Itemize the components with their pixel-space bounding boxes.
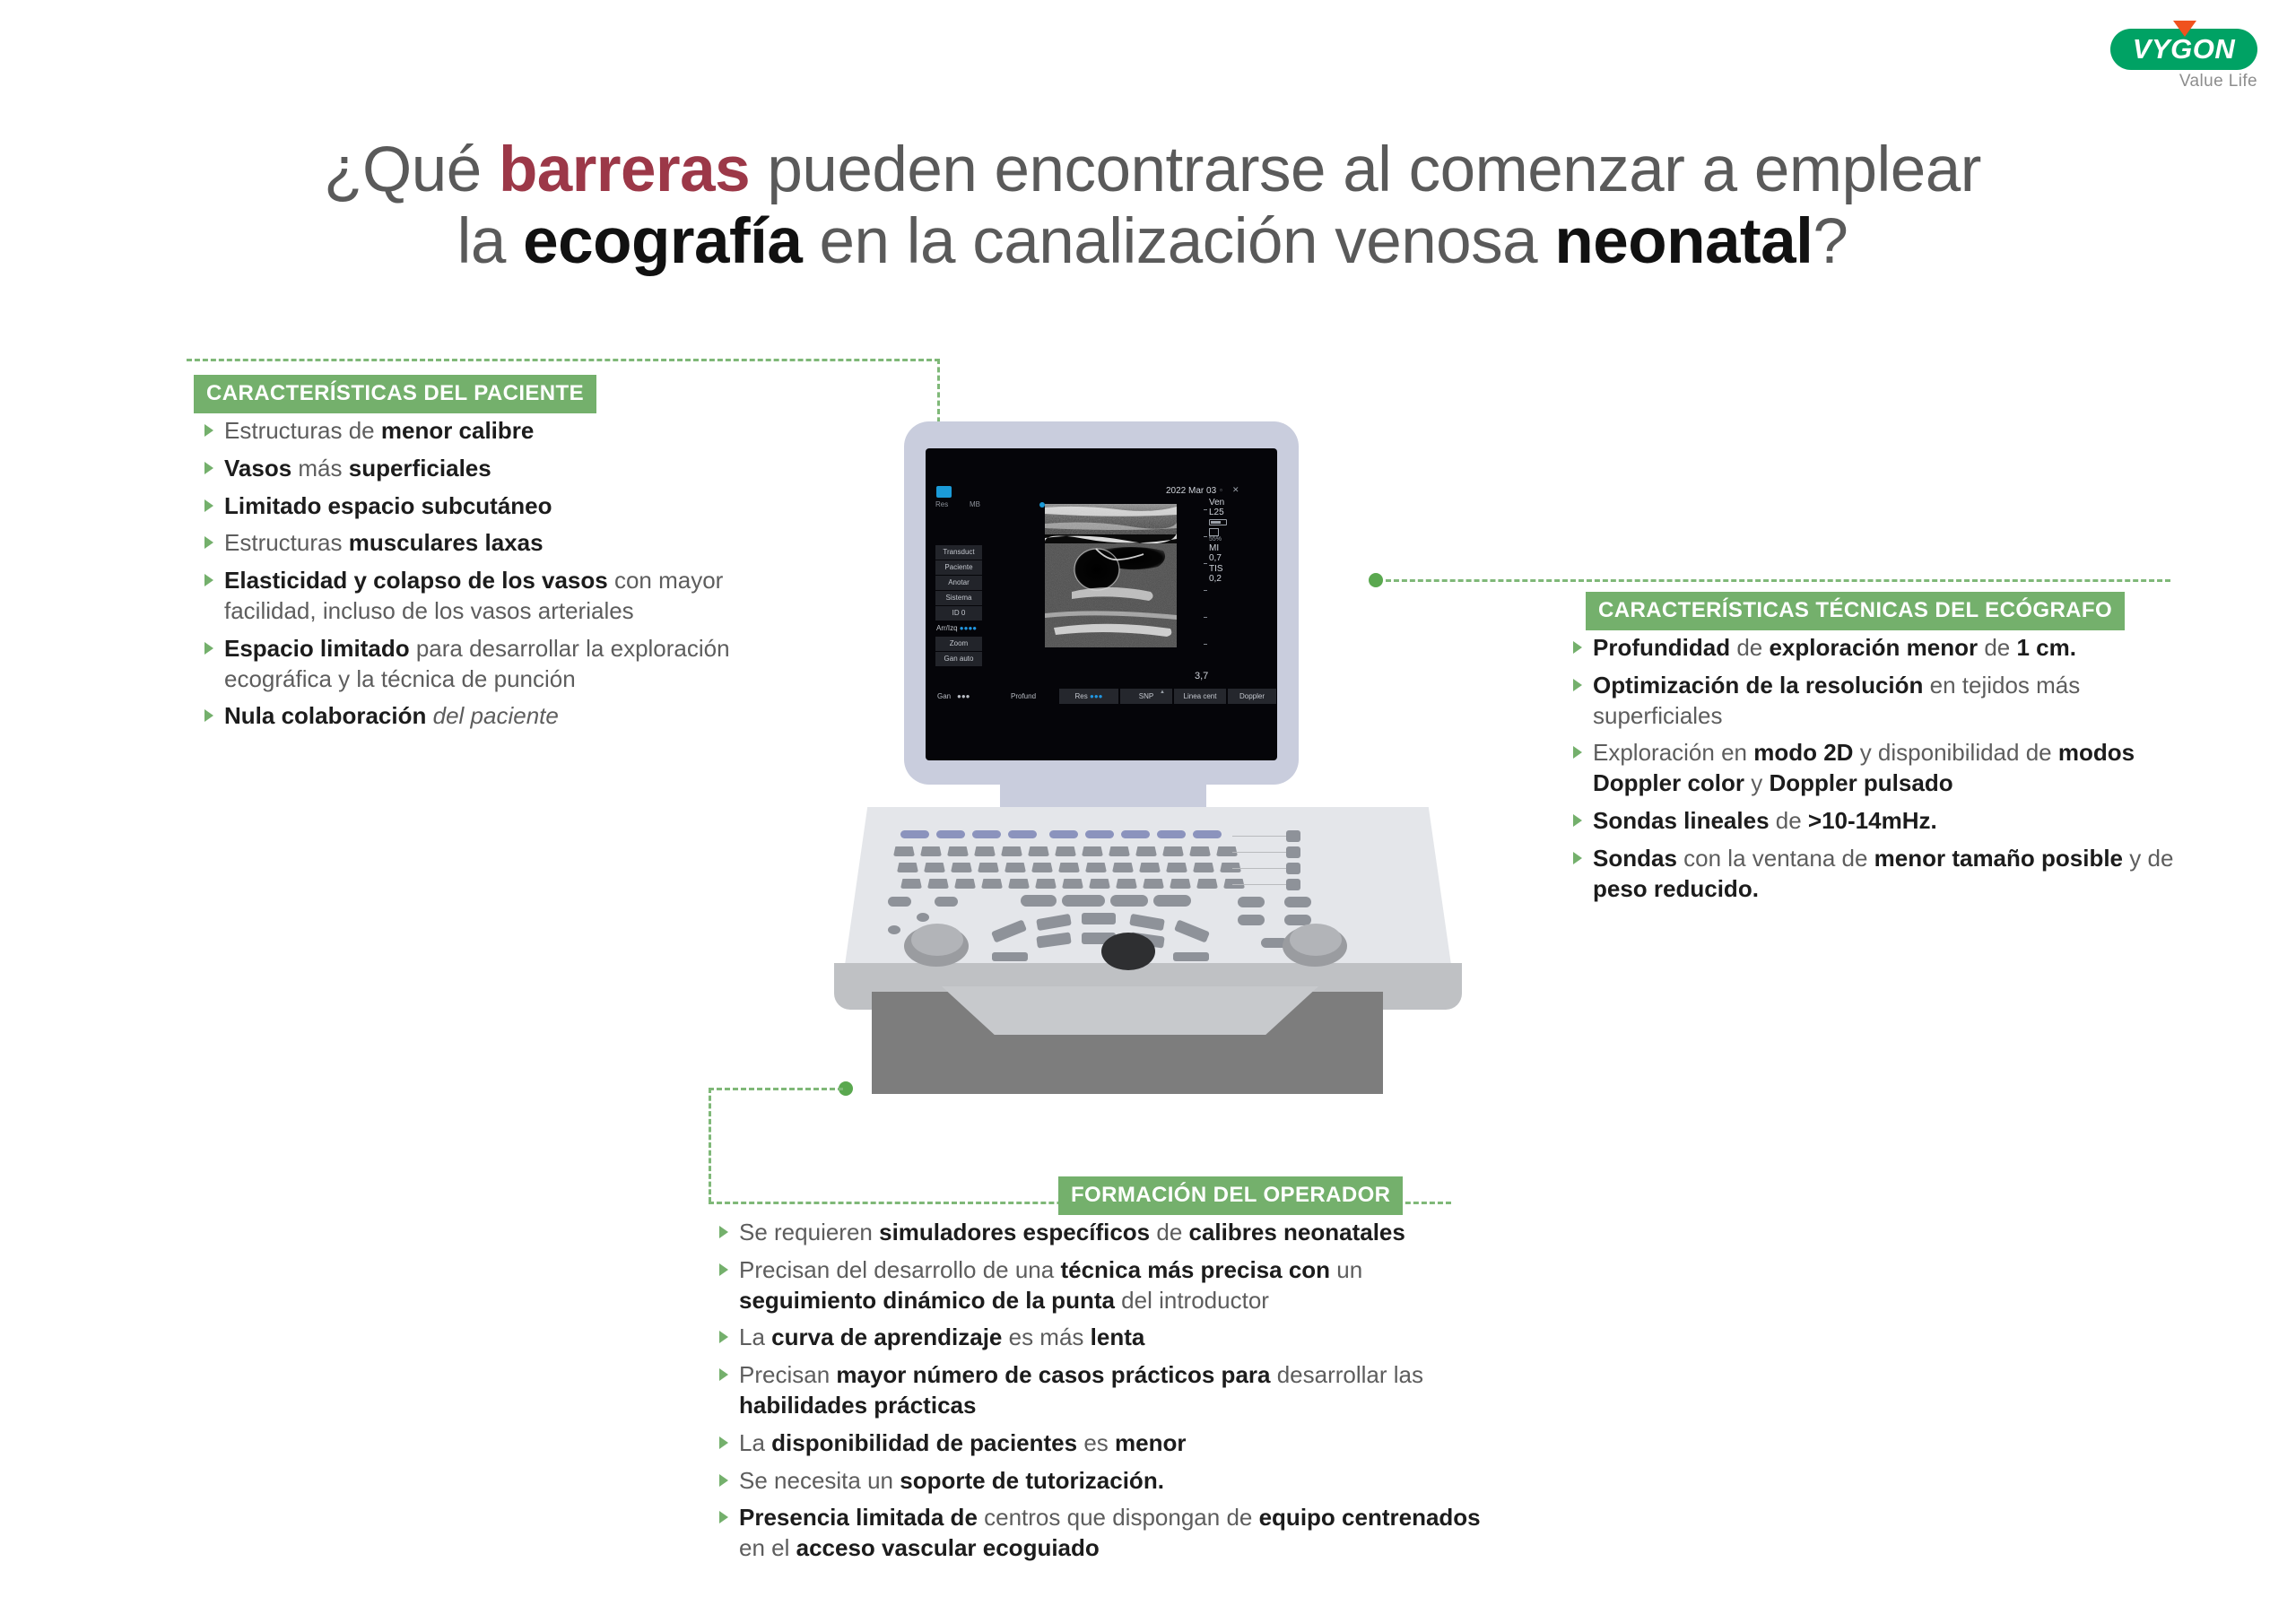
- key-function-2[interactable]: [936, 830, 965, 838]
- screen-date: 2022 Mar 03: [1166, 486, 1216, 496]
- slider-track-1[interactable]: [1232, 836, 1293, 837]
- screen-bottom-toolbar[interactable]: Gan ●●● Profund Res ●●● SNP ▲ Linea cent…: [935, 689, 1267, 704]
- key-r2-c4[interactable]: [978, 863, 999, 872]
- screen-side-button-paciente[interactable]: Paciente: [935, 560, 982, 575]
- logo-wordmark: VYGON: [2110, 29, 2257, 70]
- slider-track-3[interactable]: [1232, 868, 1293, 869]
- screen-side-button-anotar[interactable]: Anotar: [935, 576, 982, 590]
- patient-item-2: Limitado espacio subcutáneo: [199, 491, 791, 522]
- trackball-right-highlight: [1290, 924, 1342, 956]
- toolbar-gan-dots: ●●●: [957, 689, 970, 704]
- bullet-list-technical: Profundidad de exploración menor de 1 cm…: [1568, 633, 2196, 911]
- technical-item-1: Optimización de la resolución en tejidos…: [1568, 671, 2196, 732]
- technical-item-2: Exploración en modo 2D y disponibilidad …: [1568, 738, 2196, 799]
- technical-item-4: Sondas con la ventana de menor tamaño po…: [1568, 844, 2196, 905]
- title-line-2: la ecografía en la canalización venosa n…: [457, 206, 1848, 277]
- ultrasound-scan-graphic: [1045, 504, 1177, 647]
- badge-patient: CARACTERÍSTICAS DEL PACIENTE: [194, 375, 596, 413]
- infographic-page: VYGON Value Life ¿Qué barreras pueden en…: [0, 0, 2296, 1623]
- key-mode-fan-3[interactable]: [1082, 913, 1116, 924]
- screen-depth-ticks: [1202, 504, 1209, 665]
- patient-item-6: Nula colaboración del paciente: [199, 701, 791, 732]
- screen-right-readouts: Ven L25 55% MI 0,7 TIS 0,2: [1209, 498, 1245, 584]
- key-r1-c9[interactable]: [1109, 846, 1130, 856]
- screen-mb-label: MB: [970, 500, 980, 508]
- key-mode-fan-2[interactable]: [1036, 914, 1072, 931]
- key-r3-c4[interactable]: [981, 879, 1003, 889]
- title-accent-barreras: barreras: [499, 135, 750, 205]
- bullet-list-patient: Estructuras de menor calibreVasos más su…: [199, 416, 791, 739]
- key-r1-c3[interactable]: [947, 846, 969, 856]
- key-dot-up[interactable]: [917, 913, 929, 922]
- screen-side-button-transduct[interactable]: Transduct: [935, 545, 982, 560]
- patient-item-4: Elasticidad y colapso de los vasos con m…: [199, 566, 791, 627]
- monitor-screen: Res MB 2022 Mar 03 ▫ ✕ TransductPaciente…: [926, 448, 1277, 760]
- key-function-5[interactable]: [1049, 830, 1078, 838]
- key-function-1[interactable]: [900, 830, 929, 838]
- key-r2-c12[interactable]: [1193, 863, 1214, 872]
- screen-res-label: Res: [935, 500, 948, 508]
- key-r1-c4[interactable]: [974, 846, 996, 856]
- key-r2-c9[interactable]: [1112, 863, 1134, 872]
- key-r1-c6[interactable]: [1028, 846, 1049, 856]
- patient-item-0: Estructuras de menor calibre: [199, 416, 791, 447]
- key-right-3[interactable]: [1238, 915, 1265, 925]
- key-r2-c2[interactable]: [924, 863, 945, 872]
- battery-icon: [1209, 519, 1227, 525]
- trackball-center[interactable]: [1101, 933, 1155, 970]
- key-wide-4[interactable]: [1153, 895, 1191, 907]
- key-r1-c8[interactable]: [1082, 846, 1103, 856]
- key-mode-fan-5[interactable]: [1174, 919, 1210, 942]
- key-r2-c8[interactable]: [1085, 863, 1107, 872]
- screen-minimize-icon[interactable]: ▫: [1220, 486, 1222, 494]
- page-title: ¿Qué barreras pueden encontrarse al come…: [108, 135, 2197, 277]
- key-r2-c3[interactable]: [951, 863, 972, 872]
- badge-technical: CARACTERÍSTICAS TÉCNICAS DEL ECÓGRAFO: [1586, 592, 2125, 630]
- key-r3-c3[interactable]: [954, 879, 976, 889]
- title-line-1: ¿Qué barreras pueden encontrarse al come…: [324, 135, 1981, 205]
- key-function-6[interactable]: [1085, 830, 1114, 838]
- toolbar-gan-label: Gan: [937, 689, 951, 704]
- key-r2-c5[interactable]: [1004, 863, 1026, 872]
- readout-mi-value: 0,7: [1209, 553, 1245, 563]
- key-function-9[interactable]: [1193, 830, 1222, 838]
- key-r2-c10[interactable]: [1139, 863, 1161, 872]
- key-function-8[interactable]: [1157, 830, 1186, 838]
- slider-track-4[interactable]: [1232, 884, 1293, 885]
- readout-tis-label: TIS: [1209, 564, 1245, 574]
- toolbar-res-label: Res: [1075, 692, 1088, 700]
- ultrasound-image: [1045, 504, 1177, 647]
- screen-side-menu[interactable]: TransductPacienteAnotarSistemaID 0Arr/Iz…: [935, 545, 982, 667]
- readout-mode: Ven: [1209, 498, 1245, 508]
- key-wide-3[interactable]: [1110, 895, 1148, 907]
- key-dot-left[interactable]: [888, 925, 900, 934]
- trackball-left-highlight: [911, 924, 963, 956]
- toolbar-profund-label: Profund: [1011, 689, 1036, 704]
- key-function-3[interactable]: [972, 830, 1001, 838]
- toolbar-doppler-button[interactable]: Doppler: [1228, 689, 1276, 704]
- key-r2-c1[interactable]: [897, 863, 918, 872]
- key-mode-fan-1[interactable]: [991, 919, 1027, 942]
- save-icon: [1209, 528, 1219, 536]
- screen-side-button-gan-auto[interactable]: Gan auto: [935, 652, 982, 666]
- operator-item-6: Presencia limitada de centros que dispon…: [714, 1503, 1485, 1564]
- slider-thumb-3[interactable]: [1286, 863, 1300, 874]
- logo-tagline: Value Life: [2103, 72, 2257, 91]
- toolbar-snp-label: SNP: [1139, 692, 1153, 700]
- operator-item-2: La curva de aprendizaje es más lenta: [714, 1323, 1485, 1353]
- technical-item-0: Profundidad de exploración menor de 1 cm…: [1568, 633, 2196, 664]
- operator-item-1: Precisan del desarrollo de una técnica m…: [714, 1255, 1485, 1316]
- key-r3-c5[interactable]: [1008, 879, 1030, 889]
- key-mode-fan-4[interactable]: [1129, 914, 1165, 931]
- screen-close-icon[interactable]: ✕: [1232, 485, 1239, 495]
- readout-tis-value: 0,2: [1209, 574, 1245, 584]
- readout-battery-pct: 55%: [1209, 536, 1245, 543]
- key-r3-c1[interactable]: [900, 879, 922, 889]
- screen-side-button-sistema[interactable]: Sistema: [935, 591, 982, 605]
- key-function-7[interactable]: [1121, 830, 1150, 838]
- toolbar-linea-cent-button[interactable]: Linea cent: [1174, 689, 1226, 704]
- key-r3-c10[interactable]: [1143, 879, 1164, 889]
- key-r3-c2[interactable]: [927, 879, 949, 889]
- operator-item-5: Se necesita un soporte de tutorización.: [714, 1466, 1485, 1497]
- key-function-4[interactable]: [1008, 830, 1037, 838]
- key-r3-c8[interactable]: [1089, 879, 1110, 889]
- key-r3-c12[interactable]: [1196, 879, 1218, 889]
- toolbar-res-dots: ●●●: [1090, 692, 1103, 700]
- key-wide-2[interactable]: [1062, 895, 1105, 907]
- operator-item-3: Precisan mayor número de casos prácticos…: [714, 1360, 1485, 1421]
- key-right-1[interactable]: [1238, 897, 1265, 907]
- slider-thumb-4[interactable]: [1286, 879, 1300, 890]
- connector-patient-horizontal: [187, 359, 940, 361]
- patient-item-5: Espacio limitado para desarrollar la exp…: [199, 634, 791, 695]
- key-r1-c5[interactable]: [1001, 846, 1022, 856]
- patient-item-3: Estructuras musculares laxas: [199, 528, 791, 559]
- machine-base-notch: [942, 986, 1318, 1035]
- key-r1-c12[interactable]: [1189, 846, 1211, 856]
- screen-side-button-id-0[interactable]: ID 0: [935, 606, 982, 621]
- toolbar-snp-sup-icon: ▲: [1160, 690, 1165, 695]
- ultrasound-machine: Res MB 2022 Mar 03 ▫ ✕ TransductPaciente…: [807, 412, 1489, 1121]
- title-bold-neonatal: neonatal: [1554, 206, 1813, 277]
- key-r3-c6[interactable]: [1035, 879, 1057, 889]
- screen-side-button-arr-izq[interactable]: Arr/Izq ●●●●: [935, 621, 982, 636]
- monitor-bezel: Res MB 2022 Mar 03 ▫ ✕ TransductPaciente…: [904, 421, 1299, 785]
- connector-technical-horizontal: [1386, 579, 2170, 582]
- key-r2-c6[interactable]: [1031, 863, 1053, 872]
- toolbar-res-button[interactable]: Res ●●●: [1059, 689, 1118, 704]
- key-r1-c10[interactable]: [1135, 846, 1157, 856]
- key-left-2[interactable]: [935, 897, 958, 907]
- slider-thumb-1[interactable]: [1286, 830, 1300, 842]
- screen-depth-marker: 3,7: [1195, 671, 1208, 681]
- operator-item-4: La disponibilidad de pacientes es menor: [714, 1428, 1485, 1459]
- readout-probe: L25: [1209, 508, 1245, 517]
- slider-thumb-2[interactable]: [1286, 846, 1300, 858]
- key-r3-c7[interactable]: [1062, 879, 1083, 889]
- key-r1-c1[interactable]: [893, 846, 915, 856]
- key-mode-row3-2[interactable]: [1173, 952, 1209, 961]
- slider-track-2[interactable]: [1232, 852, 1293, 853]
- key-right-2[interactable]: [1284, 897, 1311, 907]
- key-left-1[interactable]: [888, 897, 911, 907]
- badge-operator: FORMACIÓN DEL OPERADOR: [1058, 1176, 1403, 1215]
- key-wide-1[interactable]: [1021, 895, 1057, 907]
- technical-item-3: Sondas lineales de >10-14mHz.: [1568, 806, 2196, 837]
- connector-operator-vertical: [709, 1088, 711, 1202]
- title-bold-ecografia: ecografía: [523, 206, 802, 277]
- key-mode-row3-1[interactable]: [992, 952, 1028, 961]
- screen-side-button-zoom[interactable]: Zoom: [935, 637, 982, 651]
- screen-mode-badge-icon: [936, 486, 952, 498]
- readout-mi-label: MI: [1209, 543, 1245, 553]
- key-r1-c11[interactable]: [1162, 846, 1184, 856]
- bullet-list-operator: Se requieren simuladores específicos de …: [714, 1218, 1485, 1571]
- key-r1-c2[interactable]: [920, 846, 942, 856]
- key-r3-c11[interactable]: [1170, 879, 1191, 889]
- operator-item-0: Se requieren simuladores específicos de …: [714, 1218, 1485, 1248]
- vygon-logo: VYGON Value Life: [2103, 16, 2265, 93]
- patient-item-1: Vasos más superficiales: [199, 454, 791, 484]
- key-r3-c9[interactable]: [1116, 879, 1137, 889]
- key-r1-c7[interactable]: [1055, 846, 1076, 856]
- key-r2-c7[interactable]: [1058, 863, 1080, 872]
- key-mode-fan-6[interactable]: [1036, 932, 1071, 948]
- key-r2-c11[interactable]: [1166, 863, 1187, 872]
